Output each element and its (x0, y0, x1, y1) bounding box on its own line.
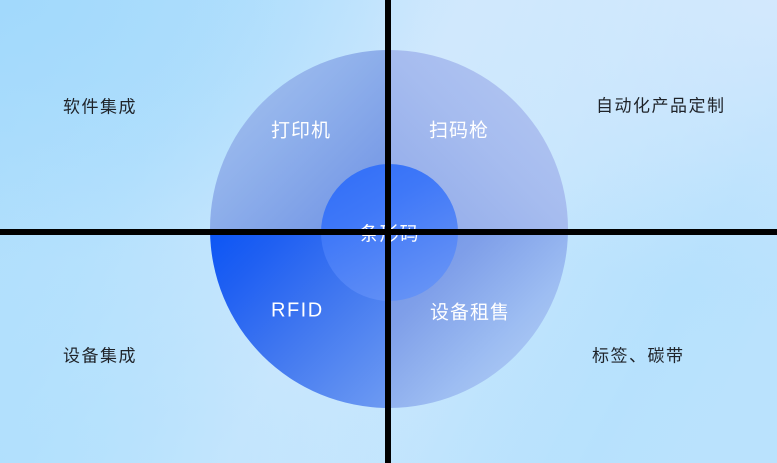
outer-label-labels-ribbons: 标签、碳带 (592, 342, 685, 367)
diagram-canvas: 条形码 打印机 扫码枪 RFID 设备租售 软件集成 自动化产品定制 设备集成 … (0, 0, 777, 463)
quadrant-label-rental: 设备租售 (430, 298, 510, 325)
quadrant-label-printer: 打印机 (271, 116, 331, 143)
outer-label-device-integration: 设备集成 (63, 342, 137, 367)
outer-label-automation-customization: 自动化产品定制 (596, 92, 726, 117)
axis-line-horizontal (0, 229, 777, 235)
quadrant-label-scanner: 扫码枪 (429, 116, 489, 143)
quadrant-label-rfid: RFID (271, 300, 324, 323)
outer-label-software-integration: 软件集成 (63, 93, 137, 118)
